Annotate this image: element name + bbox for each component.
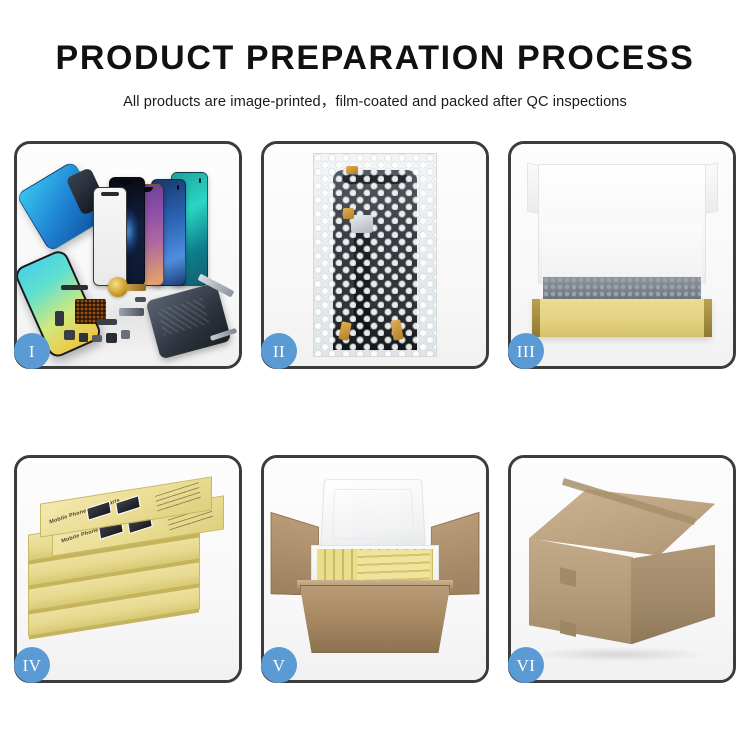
bubble-texture: [314, 154, 436, 356]
carton-front: [300, 585, 451, 654]
small-part: [121, 330, 130, 339]
small-part: [135, 297, 146, 302]
step-2-image: [264, 144, 486, 366]
carton-side-face: [631, 545, 715, 645]
product-preparation-infographic: PRODUCT PREPARATION PROCESS All products…: [0, 0, 750, 750]
coil-part: [108, 277, 128, 297]
small-part: [64, 330, 75, 340]
step-panel-5: V: [261, 455, 489, 683]
step-badge-1: I: [14, 333, 50, 369]
carton-front-face: [529, 538, 633, 645]
box-end-right: [704, 299, 712, 337]
connector-part: [119, 308, 143, 316]
punch-hole-camera-icon: [199, 178, 201, 183]
step-panel-4: Mobile Phone Spare Parts Mobile Phone Sp…: [14, 455, 242, 683]
small-part: [79, 333, 88, 342]
box-end-left: [532, 299, 540, 337]
small-part: [92, 335, 102, 343]
phone-screen-fan: [97, 162, 235, 286]
step-badge-2: II: [261, 333, 297, 369]
step-4-image: Mobile Phone Spare Parts Mobile Phone Sp…: [17, 458, 239, 680]
step-panel-1: I: [14, 141, 242, 369]
step-1-image: [17, 144, 239, 366]
punch-hole-camera-icon: [177, 185, 179, 189]
yellow-boxes-inside-stacked: [357, 550, 430, 583]
yellow-box-base: [533, 299, 711, 337]
bubble-wrap-bag: [313, 153, 437, 357]
foam-lid: [320, 479, 426, 551]
small-part: [55, 311, 64, 327]
step-panel-2: II: [261, 141, 489, 369]
flex-cable-part: [61, 285, 88, 290]
notch-icon: [120, 180, 134, 185]
tape-piece: [343, 208, 354, 218]
box-label-screen-thumbnail: [86, 501, 112, 521]
step-6-image: [511, 458, 733, 680]
step-5-image: [264, 458, 486, 680]
process-steps-grid: I II: [14, 141, 736, 693]
header: PRODUCT PREPARATION PROCESS All products…: [0, 0, 750, 111]
step-panel-3: III: [508, 141, 736, 369]
step-3-image: [511, 144, 733, 366]
step-badge-5: V: [261, 647, 297, 683]
step-badge-3: III: [508, 333, 544, 369]
step-panel-6: VI: [508, 455, 736, 683]
box-stack: Mobile Phone Spare Parts Mobile Phone Sp…: [28, 482, 228, 660]
step-badge-6: VI: [508, 647, 544, 683]
small-part: [106, 333, 117, 343]
step-badge-4: IV: [14, 647, 50, 683]
tape-piece: [560, 620, 576, 637]
floor-shadow: [533, 647, 706, 663]
flex-cable-part: [97, 319, 117, 325]
phone-glass-protector: [93, 187, 127, 286]
gold-flex-part: [126, 284, 146, 292]
page-subtitle: All products are image-printed，film-coat…: [0, 77, 750, 111]
box-label-spec-lines: [156, 482, 202, 512]
page-title: PRODUCT PREPARATION PROCESS: [0, 0, 750, 77]
tape-piece: [346, 166, 358, 174]
